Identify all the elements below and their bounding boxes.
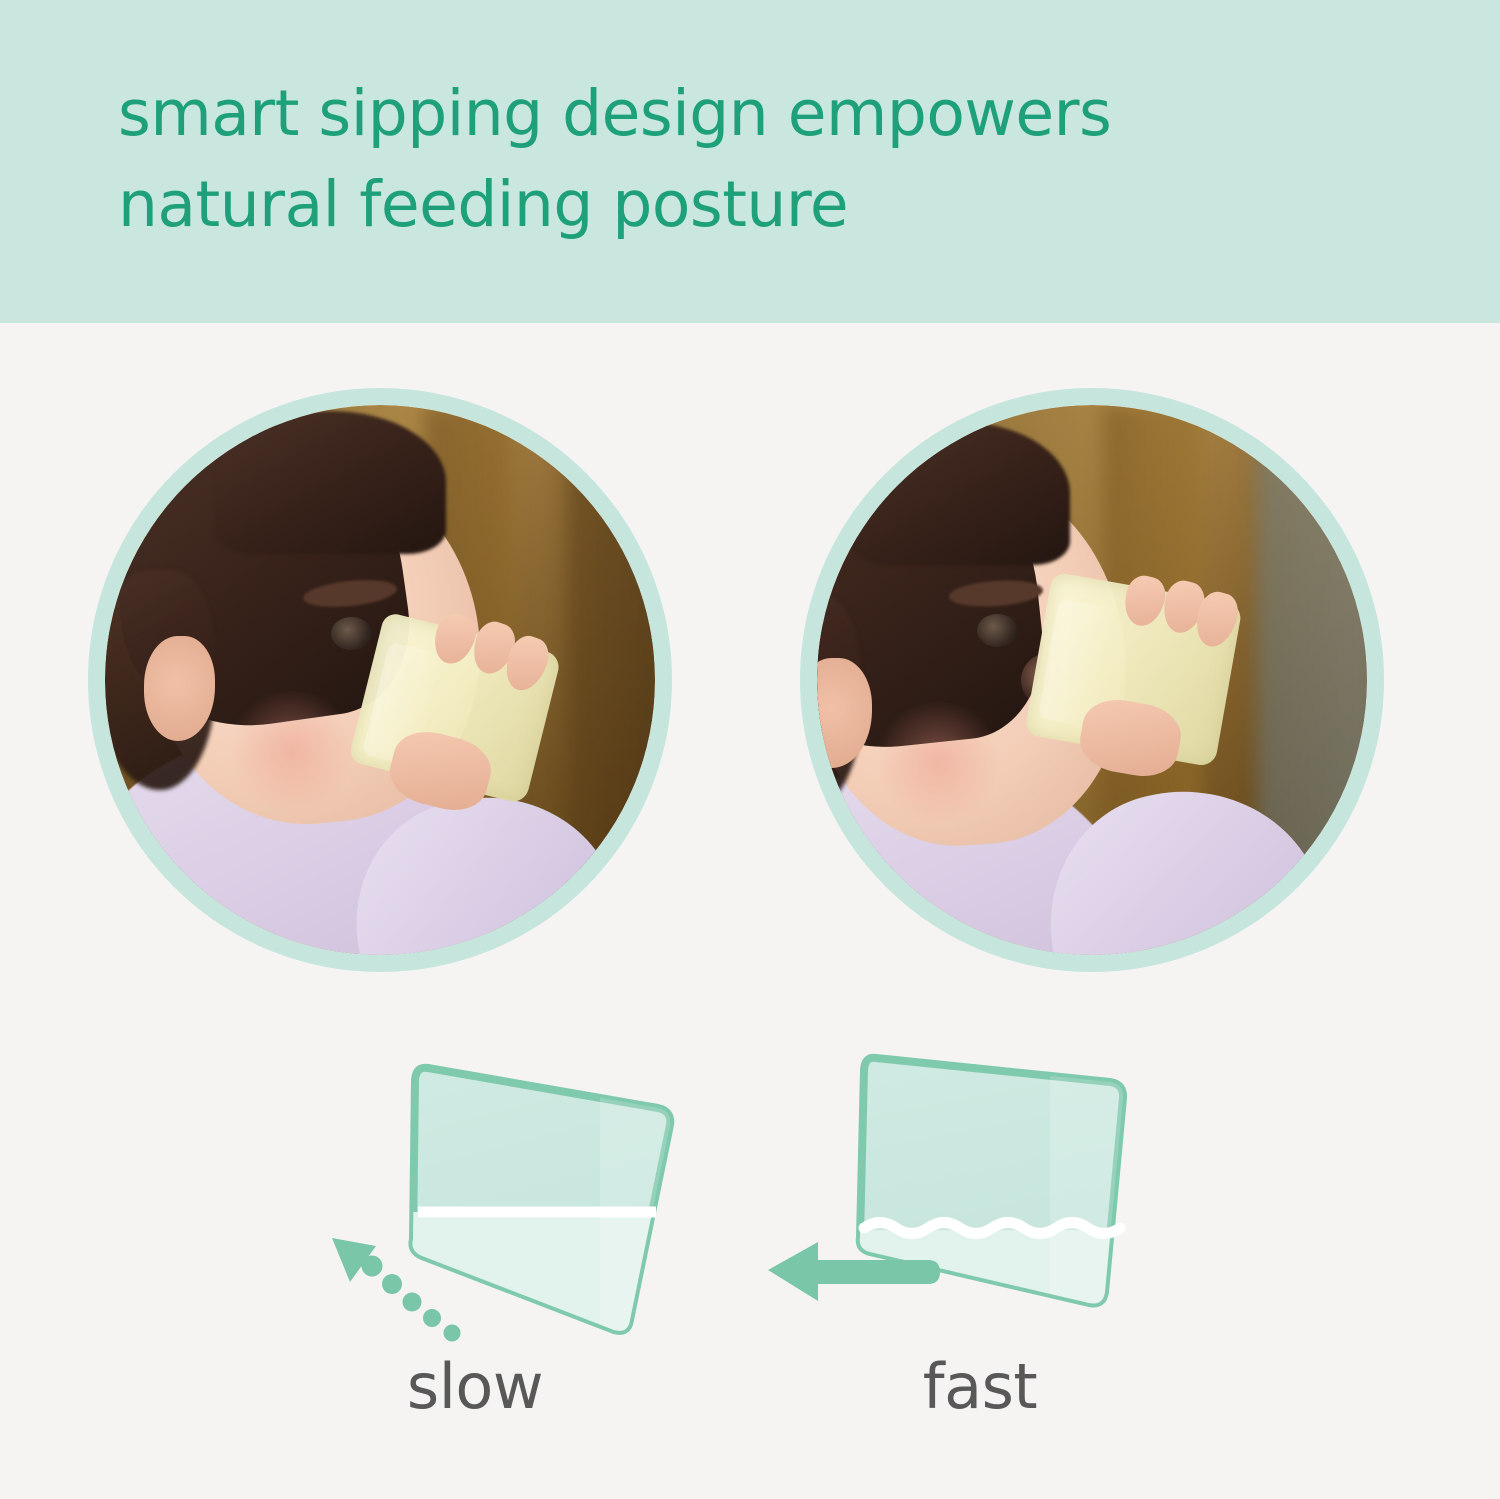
- photo-circle-slow-posture: [88, 388, 672, 972]
- baby-eye: [331, 617, 372, 650]
- bottle-shape: [820, 1058, 1180, 1350]
- baby-cheek: [226, 691, 358, 812]
- baby-hair-top: [215, 411, 446, 554]
- baby-ear: [144, 636, 216, 741]
- baby-figure: [105, 405, 655, 955]
- baby-drinking-bottle-upright: [105, 405, 655, 955]
- diagram-slow: slow: [300, 1020, 720, 1490]
- photo-row: [0, 370, 1500, 990]
- baby-eye: [977, 614, 1018, 647]
- fast-bottle-illustration: [760, 1020, 1180, 1350]
- baby-cheek: [872, 702, 1004, 823]
- slow-bottle-illustration: [300, 1020, 720, 1350]
- flow-comparison-diagram: slow: [0, 1020, 1500, 1490]
- header-banner: smart sipping design empowers natural fe…: [0, 0, 1500, 323]
- baby-figure: [817, 405, 1367, 955]
- baby-hair-top: [850, 422, 1070, 565]
- photo-circle-fast-posture: [800, 388, 1384, 972]
- fast-label: fast: [770, 1350, 1190, 1423]
- baby-drinking-bottle-tilted: [817, 405, 1367, 955]
- slow-label: slow: [265, 1350, 685, 1423]
- diagram-fast: fast: [760, 1020, 1180, 1490]
- page-title: smart sipping design empowers natural fe…: [118, 68, 1418, 251]
